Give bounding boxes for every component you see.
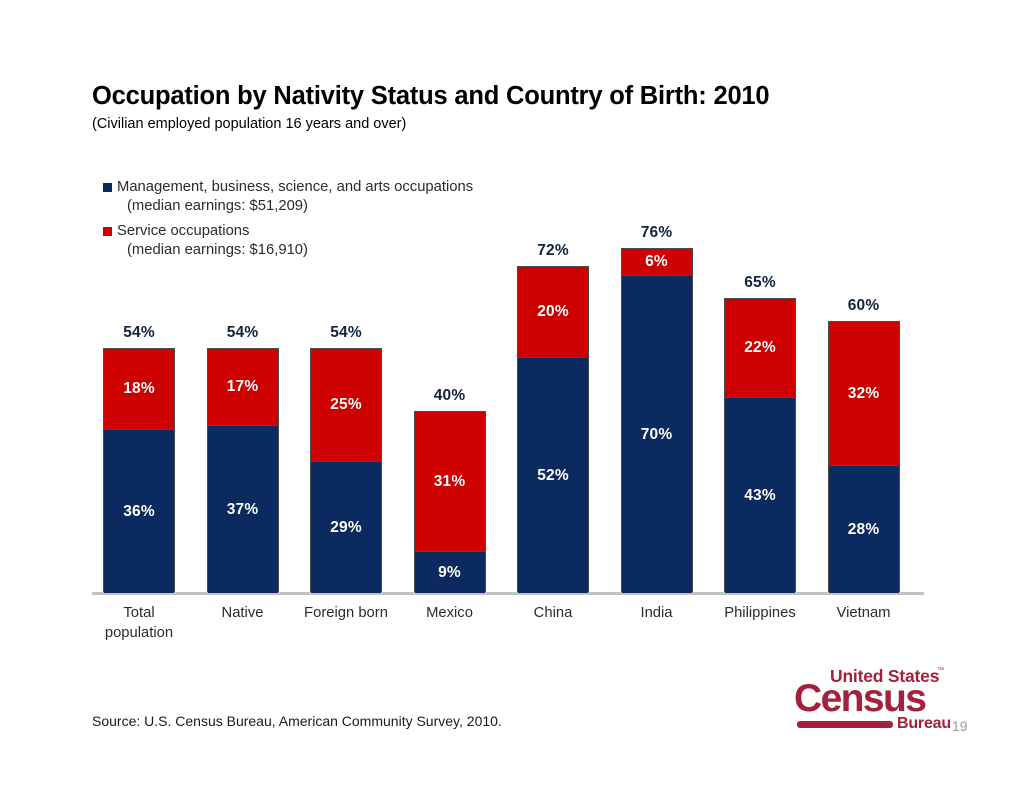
logo-rule-divider bbox=[797, 721, 893, 728]
bar-segment-service[interactable]: 18% bbox=[104, 349, 174, 430]
bar-total-label: 65% bbox=[724, 274, 796, 292]
bar-segment-management[interactable]: 70% bbox=[622, 276, 692, 593]
bar-segment-service[interactable]: 22% bbox=[725, 299, 795, 399]
bar-total-label: 54% bbox=[310, 324, 382, 342]
bar-segment-service-label: 31% bbox=[434, 474, 466, 490]
bar-total-label: 76% bbox=[621, 224, 693, 242]
plot-area: 54%18%36%54%17%37%54%25%29%40%31%9%72%20… bbox=[92, 230, 924, 595]
bar-segment-service[interactable]: 20% bbox=[518, 267, 588, 358]
bar-segment-management[interactable]: 28% bbox=[829, 466, 899, 593]
bar-stack[interactable]: 31%9% bbox=[414, 411, 486, 592]
bar-stack[interactable]: 32%28% bbox=[828, 321, 900, 593]
bar-segment-service[interactable]: 31% bbox=[415, 412, 485, 552]
x-axis-category-label: Vietnam bbox=[810, 604, 918, 624]
x-axis-category-label: India bbox=[603, 604, 711, 624]
page-title: Occupation by Nativity Status and Countr… bbox=[92, 82, 952, 111]
bar-total-label: 60% bbox=[828, 297, 900, 315]
bar-group[interactable]: 65%22%43% bbox=[724, 298, 796, 592]
bar-stack[interactable]: 22%43% bbox=[724, 298, 796, 592]
bar-segment-service-label: 22% bbox=[744, 340, 776, 356]
bar-segment-service-label: 25% bbox=[330, 397, 362, 413]
bar-stack[interactable]: 6%70% bbox=[621, 248, 693, 592]
bar-segment-service-label: 6% bbox=[645, 254, 668, 270]
stacked-bar-chart: 54%18%36%54%17%37%54%25%29%40%31%9%72%20… bbox=[92, 230, 924, 655]
bar-segment-management[interactable]: 37% bbox=[208, 426, 278, 593]
bar-segment-service[interactable]: 6% bbox=[622, 249, 692, 276]
page-subtitle: (Civilian employed population 16 years a… bbox=[92, 116, 952, 132]
bar-segment-management-label: 52% bbox=[537, 468, 569, 484]
logo-trademark-icon: ™ bbox=[937, 667, 944, 674]
bar-segment-service[interactable]: 32% bbox=[829, 322, 899, 467]
bar-group[interactable]: 60%32%28% bbox=[828, 321, 900, 593]
bar-group[interactable]: 54%18%36% bbox=[103, 348, 175, 592]
bar-segment-service[interactable]: 17% bbox=[208, 349, 278, 426]
bar-group[interactable]: 76%6%70% bbox=[621, 248, 693, 592]
bar-segment-service[interactable]: 25% bbox=[311, 349, 381, 462]
bar-segment-management[interactable]: 36% bbox=[104, 430, 174, 593]
logo-census-text: Census bbox=[794, 679, 925, 718]
bar-segment-management-label: 70% bbox=[641, 427, 673, 443]
bar-segment-management[interactable]: 29% bbox=[311, 462, 381, 593]
legend-label-management-earnings: (median earnings: $51,209) bbox=[117, 197, 473, 216]
bar-segment-management[interactable]: 52% bbox=[518, 358, 588, 593]
bar-segment-management-label: 36% bbox=[123, 504, 155, 520]
bar-segment-management-label: 43% bbox=[744, 488, 776, 504]
bar-segment-service-label: 17% bbox=[227, 379, 259, 395]
logo-bureau-text: Bureau bbox=[897, 715, 951, 733]
bar-stack[interactable]: 17%37% bbox=[207, 348, 279, 592]
bar-segment-service-label: 20% bbox=[537, 304, 569, 320]
x-axis-category-label: Foreign born bbox=[292, 604, 400, 624]
x-axis-category-label: Native bbox=[189, 604, 297, 624]
bar-segment-management[interactable]: 9% bbox=[415, 552, 485, 593]
bar-group[interactable]: 72%20%52% bbox=[517, 266, 589, 592]
legend-label-management: Management, business, science, and arts … bbox=[117, 178, 473, 216]
x-axis-category-label: Philippines bbox=[706, 604, 814, 624]
source-note: Source: U.S. Census Bureau, American Com… bbox=[92, 713, 502, 729]
bar-segment-management-label: 29% bbox=[330, 520, 362, 536]
legend-label-management-text: Management, business, science, and arts … bbox=[117, 179, 473, 195]
bar-segment-management[interactable]: 43% bbox=[725, 398, 795, 593]
bar-stack[interactable]: 18%36% bbox=[103, 348, 175, 592]
bar-group[interactable]: 40%31%9% bbox=[414, 411, 486, 592]
x-axis-category-label: Totalpopulation bbox=[85, 604, 193, 643]
bar-total-label: 40% bbox=[414, 387, 486, 405]
legend-item-management: Management, business, science, and arts … bbox=[103, 178, 623, 216]
bar-stack[interactable]: 20%52% bbox=[517, 266, 589, 592]
bar-total-label: 54% bbox=[103, 324, 175, 342]
bar-total-label: 54% bbox=[207, 324, 279, 342]
bar-group[interactable]: 54%17%37% bbox=[207, 348, 279, 592]
bar-segment-management-label: 37% bbox=[227, 502, 259, 518]
census-bureau-logo: United States ™ Census Bureau bbox=[793, 666, 945, 734]
bar-segment-service-label: 32% bbox=[848, 386, 880, 402]
bar-segment-management-label: 28% bbox=[848, 522, 880, 538]
page-number: 19 bbox=[952, 718, 968, 734]
bar-segment-management-label: 9% bbox=[438, 565, 461, 581]
x-axis-category-label: China bbox=[499, 604, 607, 624]
title-block: Occupation by Nativity Status and Countr… bbox=[92, 82, 952, 132]
bar-total-label: 72% bbox=[517, 242, 589, 260]
x-axis-category-label: Mexico bbox=[396, 604, 504, 624]
bar-stack[interactable]: 25%29% bbox=[310, 348, 382, 592]
bar-segment-service-label: 18% bbox=[123, 381, 155, 397]
legend-swatch-management-icon bbox=[103, 183, 112, 192]
bar-group[interactable]: 54%25%29% bbox=[310, 348, 382, 592]
